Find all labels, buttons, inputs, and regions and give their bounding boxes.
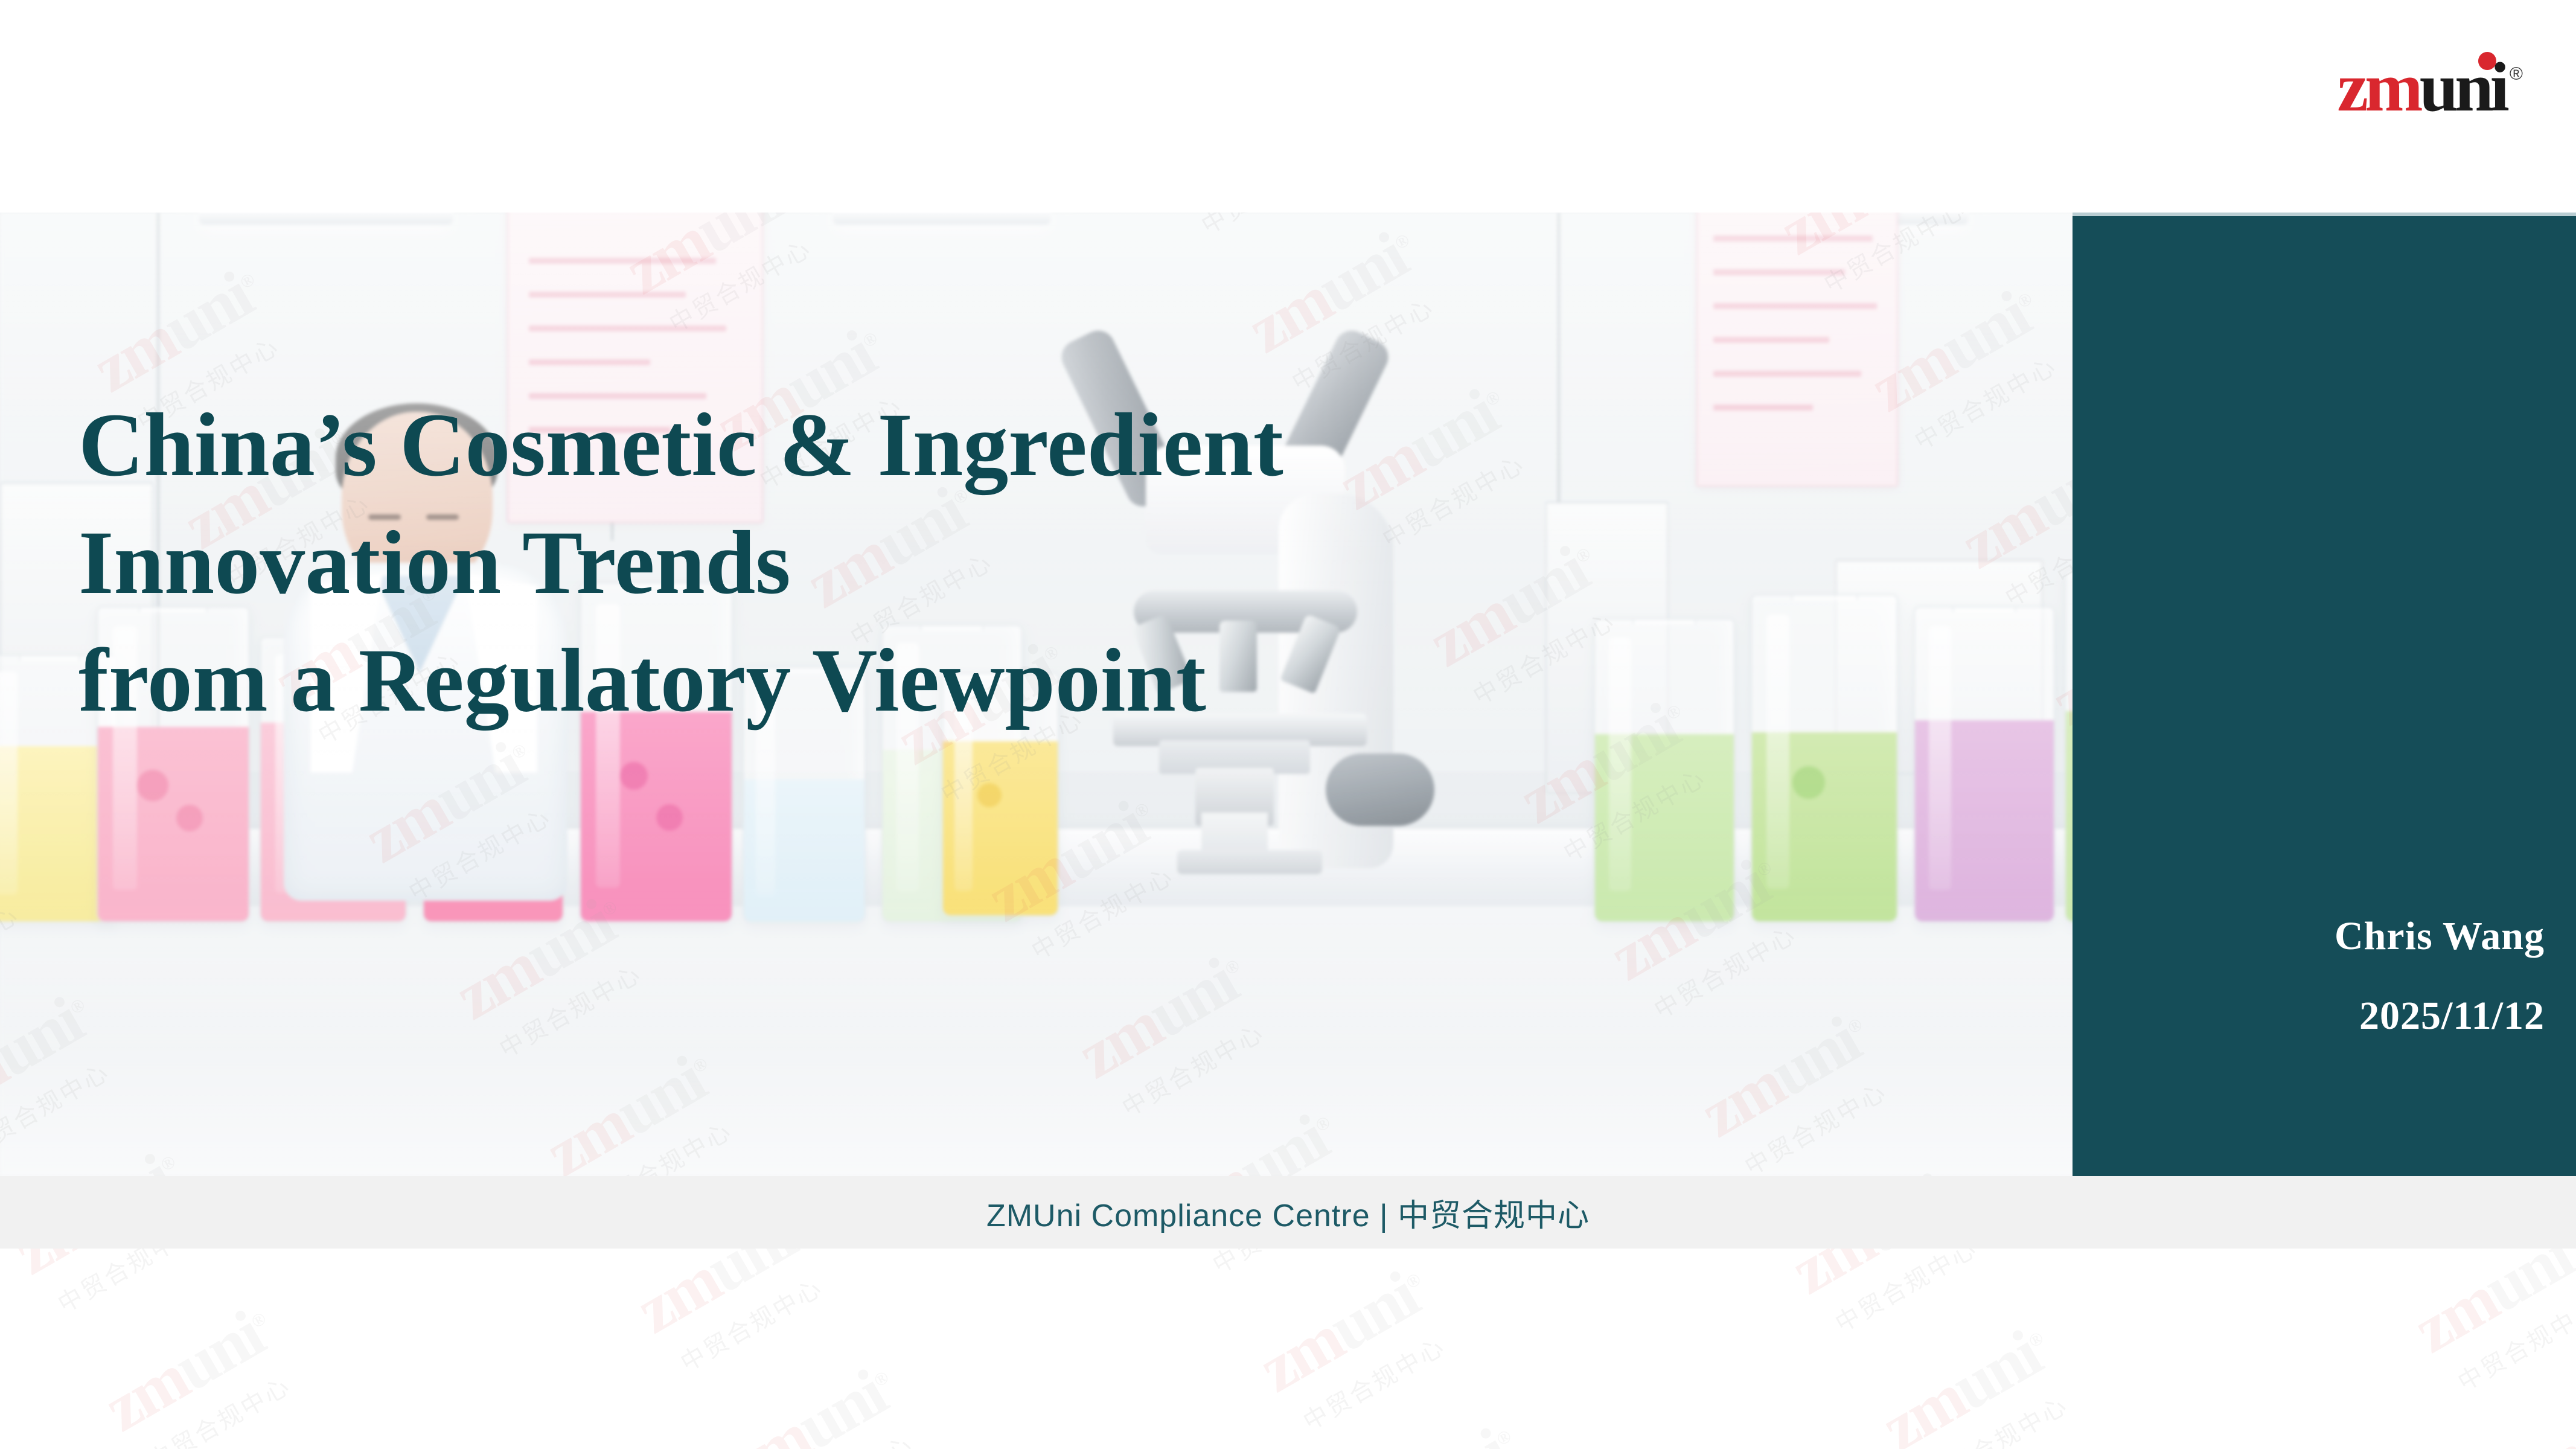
logo-dot-icon [2478, 52, 2496, 70]
microscope-focus-knob [1326, 753, 1434, 826]
ceiling-light [833, 213, 1050, 225]
title-line-1: China’s Cosmetic & Ingredient [78, 386, 1745, 504]
microscope-illuminator [1177, 850, 1322, 874]
top-bar [0, 0, 2576, 213]
reagent-bottle [1914, 606, 2055, 923]
registered-trademark-icon: ® [2510, 64, 2523, 85]
reagent-bottle [1751, 594, 1898, 923]
footer-bar: ZMUni Compliance Centre | 中贸合规中心 [0, 1176, 2576, 1249]
title-line-2: Innovation Trends [78, 504, 1745, 622]
zmuni-logo: zmuni ® [2338, 56, 2523, 120]
author-meta-block: Chris Wang 2025/11/12 [2335, 916, 2545, 1036]
footer-caption: ZMUni Compliance Centre | 中贸合规中心 [986, 1190, 1590, 1235]
ceiling-light [199, 213, 453, 225]
title-line-3: from a Regulatory Viewpoint [78, 622, 1745, 740]
author-panel: Chris Wang 2025/11/12 [2073, 211, 2576, 1181]
page-title: China’s Cosmetic & Ingredient Innovation… [78, 386, 1745, 740]
author-name: Chris Wang [2335, 916, 2545, 956]
logo-zm-text: zm [2338, 49, 2420, 126]
bottom-margin [0, 1249, 2576, 1449]
presentation-slide: China’s Cosmetic & Ingredient Innovation… [0, 0, 2576, 1449]
presentation-date: 2025/11/12 [2335, 996, 2545, 1036]
